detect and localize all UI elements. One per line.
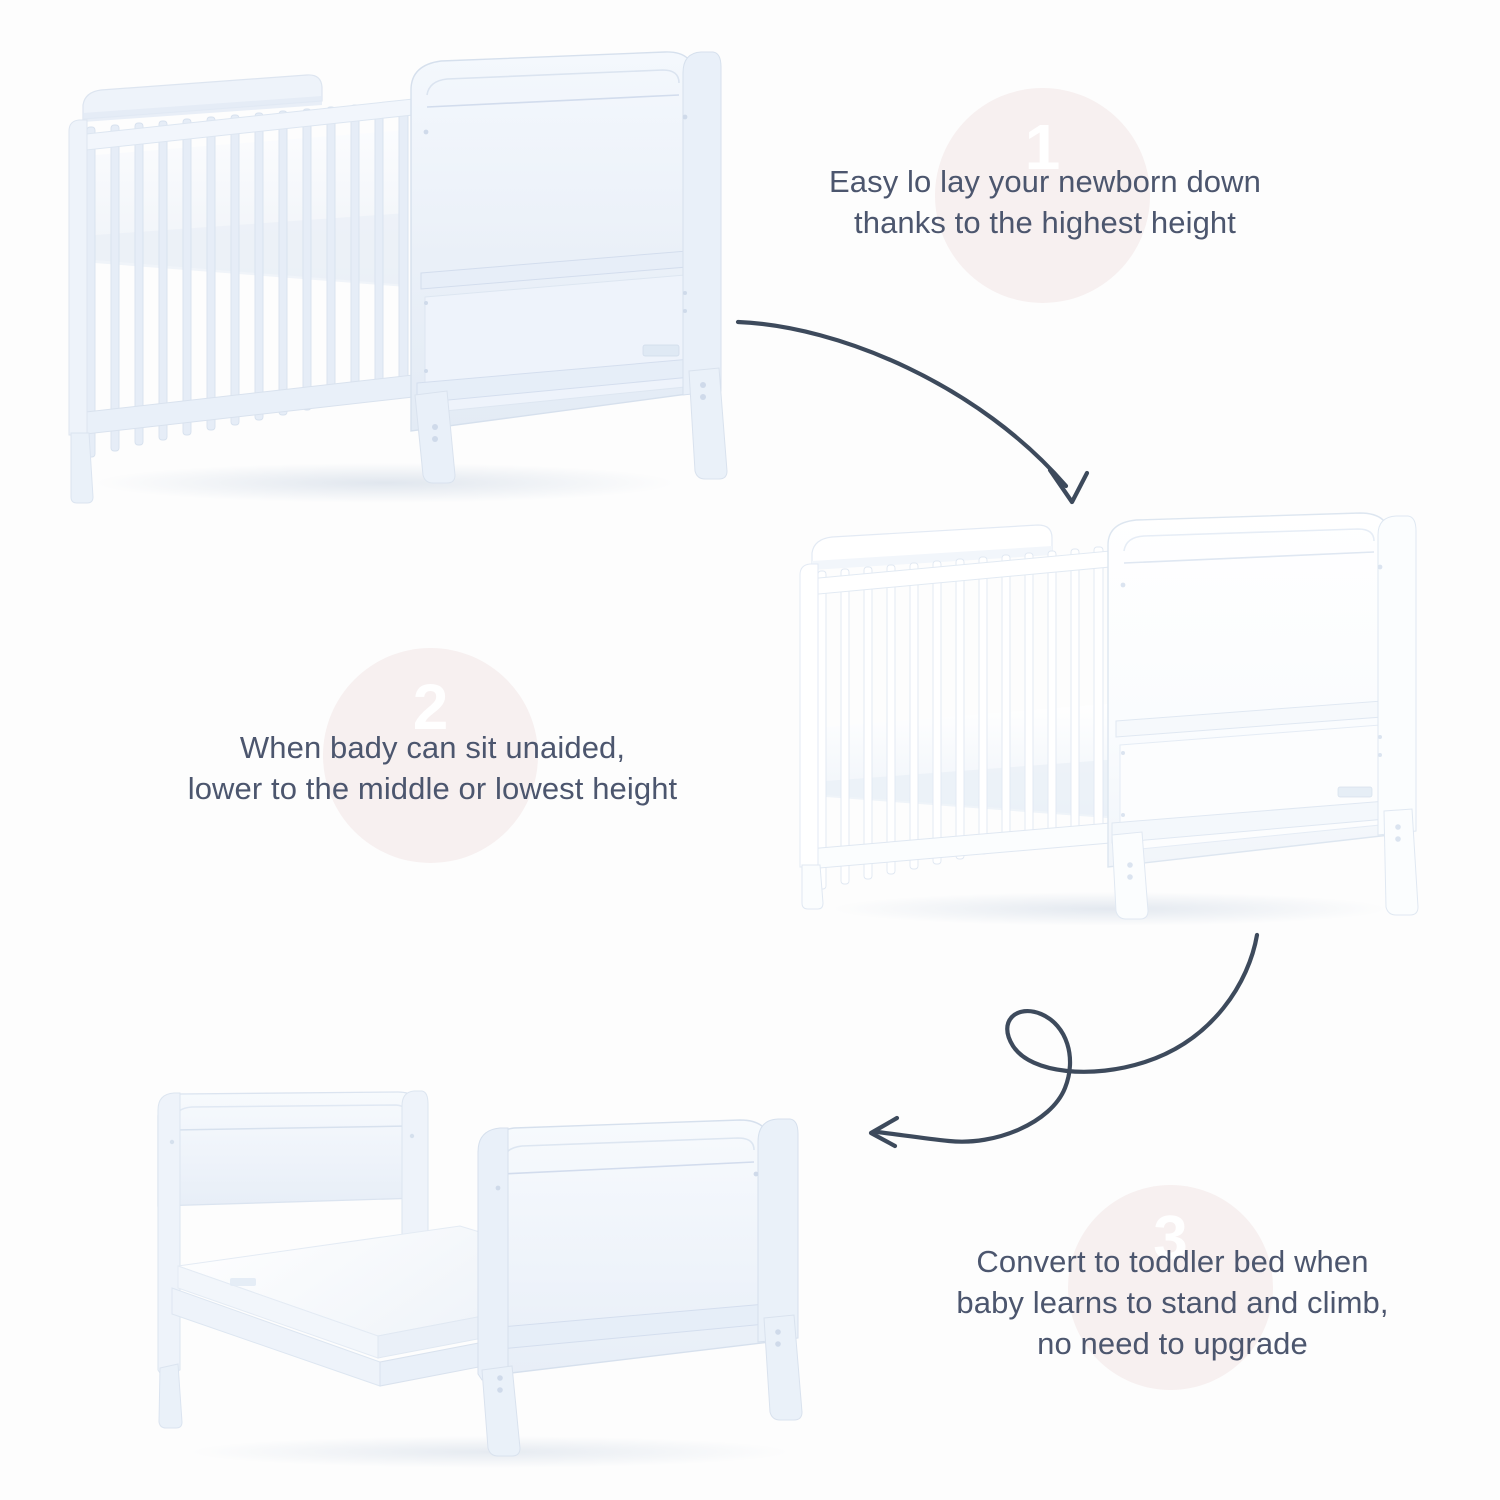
step-3-caption-line-3: no need to upgrade [880, 1324, 1465, 1365]
product-image-cot-highest [55, 35, 735, 505]
cot-left-leg [71, 433, 93, 503]
brand-label [643, 345, 679, 356]
product-image-cot-lowest [790, 505, 1430, 925]
product-image-toddler-bed [130, 1070, 830, 1470]
arrow-step2-to-step3 [845, 890, 1265, 1180]
step-2-caption: When bady can sit unaided, lower to the … [125, 728, 740, 810]
step-2-caption-line-1: When bady can sit unaided, [125, 728, 740, 769]
infographic-canvas: 1 Easy lo lay your newborn down thanks t… [0, 0, 1500, 1500]
step-1-caption-line-1: Easy lo lay your newborn down [740, 162, 1350, 203]
brand-label [230, 1278, 256, 1286]
step-2-caption-line-2: lower to the middle or lowest height [125, 769, 740, 810]
floor-shadow [95, 463, 675, 503]
cot-left-leg [802, 865, 823, 909]
cot-left-post [69, 120, 87, 435]
arrow-step1-to-step2 [710, 290, 1120, 530]
cot-end-panel [411, 52, 727, 483]
cot-end-leg-right [1384, 809, 1418, 915]
arrow-head [871, 1118, 897, 1146]
step-3-caption-line-2: baby learns to stand and climb, [880, 1283, 1465, 1324]
step-3-caption-line-1: Convert to toddler bed when [880, 1242, 1465, 1283]
brand-label [1338, 787, 1372, 797]
step-3-caption: Convert to toddler bed when baby learns … [880, 1242, 1465, 1365]
floor-shadow [832, 892, 1388, 925]
arrow-curve [877, 935, 1257, 1142]
step-1-caption-line-2: thanks to the highest height [740, 203, 1350, 244]
cot-left-post [800, 564, 818, 867]
step-1-caption: Easy lo lay your newborn down thanks to … [740, 162, 1350, 244]
cot-end-panel [1108, 513, 1418, 919]
cot-near-bottom-rail [77, 375, 413, 435]
arrow-curve [738, 322, 1066, 486]
arrow-head [1050, 470, 1087, 502]
toddler-bed-footboard [478, 1119, 802, 1456]
